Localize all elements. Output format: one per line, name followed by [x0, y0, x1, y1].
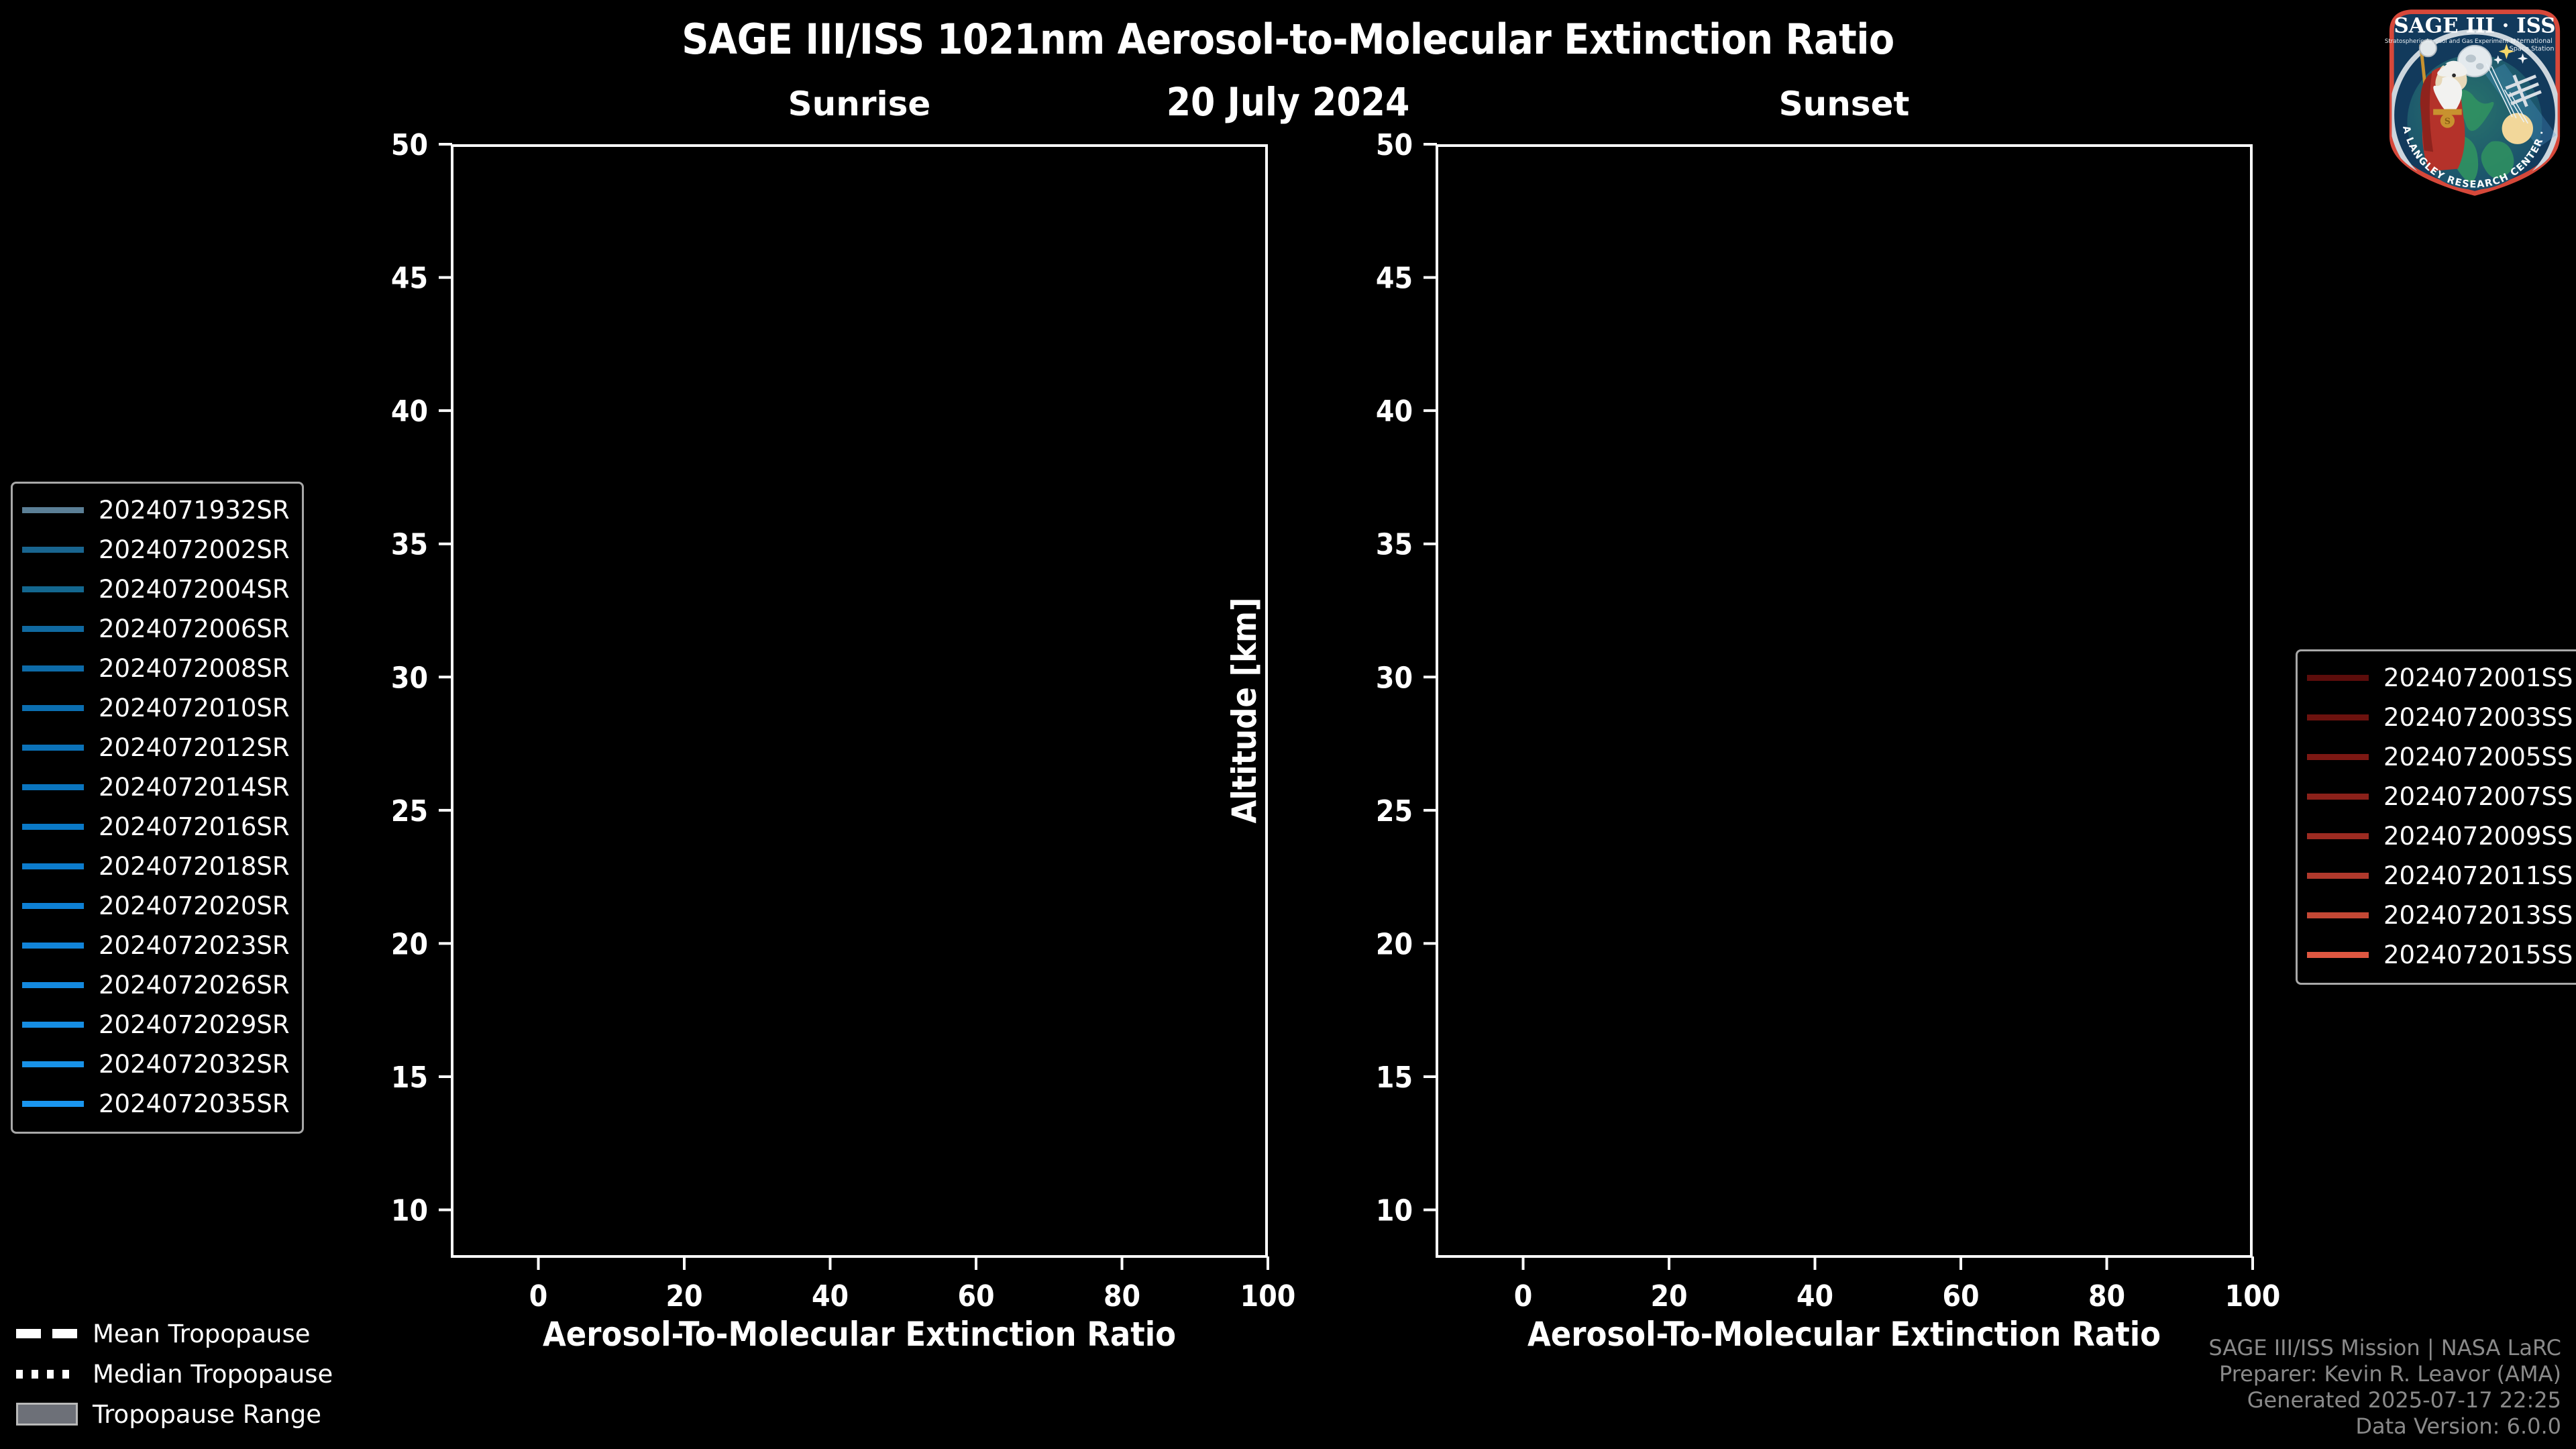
legend-sunrise-item[interactable]: 2024072016SR	[22, 807, 290, 847]
y-tick-label: 50	[1376, 128, 1413, 162]
y-tick-label: 20	[1376, 927, 1413, 961]
legend-sunrise-item[interactable]: 2024072032SR	[22, 1044, 290, 1084]
x-tick-label: 40	[1796, 1279, 1833, 1313]
legend-sunrise-color-swatch-icon	[22, 982, 84, 988]
logo-subtitle-right-2: Space Station	[2510, 46, 2555, 53]
plot-panel-sunrise: 101520253035404550020406080100	[451, 144, 1268, 1258]
legend-sunrise-item[interactable]: 2024071932SR	[22, 490, 290, 530]
legend-sunrise-item[interactable]: 2024072026SR	[22, 965, 290, 1005]
y-tick-label: 30	[1376, 661, 1413, 695]
legend-sunrise-item[interactable]: 2024072029SR	[22, 1005, 290, 1044]
legend-sunset-item[interactable]: 2024072001SS	[2307, 658, 2573, 698]
x-tick-label: 80	[1104, 1279, 1140, 1313]
credits-line-generated: Generated 2025-07-17 22:25	[2208, 1387, 2561, 1413]
legend-sunrise-label: 2024072004SR	[99, 575, 290, 604]
legend-sunset-item[interactable]: 2024072007SS	[2307, 777, 2573, 816]
legend-sunrise-color-swatch-icon	[22, 1101, 84, 1107]
plot-svg: 101520253035404550020406080100	[1436, 144, 2253, 1258]
legend-sunrise-item[interactable]: 2024072004SR	[22, 570, 290, 609]
legend-sunrise-label: 2024072032SR	[99, 1050, 290, 1079]
legend-sunrise-color-swatch-icon	[22, 784, 84, 790]
legend-label-median-tropopause: Median Tropopause	[93, 1360, 333, 1389]
legend-sunrise-color-swatch-icon	[22, 507, 84, 513]
legend-sunrise-label: 2024072010SR	[99, 694, 290, 722]
y-tick-label: 45	[1376, 262, 1413, 296]
legend-sunset-color-swatch-icon	[2307, 794, 2369, 800]
legend-sunset-label: 2024072015SS	[2383, 941, 2573, 969]
legend-sunset-item[interactable]: 2024072003SS	[2307, 698, 2573, 737]
legend-sunset-color-swatch-icon	[2307, 952, 2369, 958]
legend-sunrise-item[interactable]: 2024072002SR	[22, 530, 290, 570]
x-tick-label: 60	[1942, 1279, 1979, 1313]
legend-sunrise-item[interactable]: 2024072014SR	[22, 767, 290, 807]
x-axis-label-sunset: Aerosol-To-Molecular Extinction Ratio	[1436, 1315, 2253, 1354]
legend-sunrise-color-swatch-icon	[22, 943, 84, 949]
legend-label-tropopause-range: Tropopause Range	[93, 1400, 321, 1429]
x-tick-label: 0	[1514, 1279, 1533, 1313]
median-tropopause-dot-icon	[16, 1368, 78, 1379]
legend-sunset-label: 2024072013SS	[2383, 901, 2573, 930]
legend-sunset-item[interactable]: 2024072005SS	[2307, 737, 2573, 777]
legend-label-mean-tropopause: Mean Tropopause	[93, 1320, 311, 1348]
legend-sunset-color-swatch-icon	[2307, 833, 2369, 839]
x-tick-label: 20	[1650, 1279, 1687, 1313]
y-tick-label: 40	[1376, 394, 1413, 429]
svg-text:S: S	[2445, 116, 2451, 126]
y-tick-label: 35	[1376, 528, 1413, 562]
legend-sunset-item[interactable]: 2024072013SS	[2307, 896, 2573, 935]
y-tick-label: 10	[1376, 1194, 1413, 1228]
legend-sunrise-color-swatch-icon	[22, 547, 84, 553]
x-tick-label: 100	[2225, 1279, 2281, 1313]
y-tick-label: 50	[391, 128, 428, 162]
legend-sunrise-color-swatch-icon	[22, 586, 84, 592]
y-tick-label: 10	[391, 1194, 428, 1228]
legend-sunrise-label: 2024072018SR	[99, 852, 290, 881]
legend-sunrise-item[interactable]: 2024072035SR	[22, 1084, 290, 1124]
legend-sunrise-item[interactable]: 2024072018SR	[22, 847, 290, 886]
legend-sunrise-label: 2024072002SR	[99, 535, 290, 564]
legend-sunrise-label: 2024072026SR	[99, 971, 290, 1000]
credits-line-preparer: Preparer: Kevin R. Leavor (AMA)	[2208, 1361, 2561, 1387]
legend-sunrise-color-swatch-icon	[22, 665, 84, 672]
x-axis-label-sunrise: Aerosol-To-Molecular Extinction Ratio	[451, 1315, 1268, 1354]
legend-sunset-label: 2024072003SS	[2383, 703, 2573, 732]
legend-sunrise-label: 2024072016SR	[99, 812, 290, 841]
logo-subtitle-left: Stratospheric Aerosol and Gas Experiment…	[2385, 38, 2516, 45]
credits-block: SAGE III/ISS Mission | NASA LaRC Prepare…	[2208, 1335, 2561, 1440]
legend-sunset[interactable]: 2024072001SS2024072003SS2024072005SS2024…	[2296, 649, 2576, 985]
legend-sunrise-label: 2024072023SR	[99, 931, 290, 960]
legend-sunset-item[interactable]: 2024072015SS	[2307, 935, 2573, 975]
x-tick-label: 40	[812, 1279, 849, 1313]
legend-sunrise-item[interactable]: 2024072010SR	[22, 688, 290, 728]
legend-sunrise-label: 2024072029SR	[99, 1010, 290, 1039]
legend-item-tropopause-range: Tropopause Range	[16, 1394, 333, 1434]
legend-sunrise-color-swatch-icon	[22, 1061, 84, 1067]
legend-sunrise-color-swatch-icon	[22, 903, 84, 909]
legend-sunrise-label: 2024072008SR	[99, 654, 290, 683]
legend-sunrise-color-swatch-icon	[22, 1022, 84, 1028]
logo-subtitle-right-1: International	[2511, 38, 2553, 45]
y-axis-label-sunset: Altitude [km]	[1225, 576, 1264, 845]
x-tick-label: 0	[529, 1279, 548, 1313]
credits-line-data-version: Data Version: 6.0.0	[2208, 1413, 2561, 1440]
legend-sunrise-label: 2024071932SR	[99, 496, 290, 525]
legend-sunset-color-swatch-icon	[2307, 675, 2369, 681]
sage-iii-iss-mission-patch-logo: S SAGE III · ISS Stratospheric Aerosol a…	[2377, 1, 2572, 203]
y-tick-label: 15	[1376, 1061, 1413, 1095]
tropopause-range-swatch-icon	[16, 1403, 78, 1426]
legend-tropopause: Mean Tropopause Median Tropopause Tropop…	[16, 1313, 333, 1434]
legend-sunrise-label: 2024072020SR	[99, 892, 290, 920]
legend-sunset-label: 2024072009SS	[2383, 822, 2573, 851]
x-tick-label: 80	[2088, 1279, 2125, 1313]
legend-item-median-tropopause: Median Tropopause	[16, 1354, 333, 1394]
plot-svg: 101520253035404550020406080100	[451, 144, 1268, 1258]
y-tick-label: 15	[391, 1061, 428, 1095]
y-tick-label: 45	[391, 262, 428, 296]
legend-sunrise-item[interactable]: 2024072020SR	[22, 886, 290, 926]
legend-sunrise-color-swatch-icon	[22, 824, 84, 830]
x-tick-label: 100	[1240, 1279, 1296, 1313]
legend-sunset-label: 2024072001SS	[2383, 663, 2573, 692]
y-tick-label: 30	[391, 661, 428, 695]
legend-sunset-color-swatch-icon	[2307, 912, 2369, 918]
legend-sunrise-color-swatch-icon	[22, 745, 84, 751]
legend-sunrise[interactable]: 2024071932SR2024072002SR2024072004SR2024…	[11, 482, 304, 1134]
y-tick-label: 25	[391, 794, 428, 828]
y-tick-label: 35	[391, 528, 428, 562]
legend-sunrise-item[interactable]: 2024072012SR	[22, 728, 290, 767]
x-tick-label: 20	[665, 1279, 702, 1313]
legend-sunrise-item[interactable]: 2024072006SR	[22, 609, 290, 649]
legend-sunrise-label: 2024072012SR	[99, 733, 290, 762]
mean-tropopause-dash-icon	[16, 1328, 78, 1339]
legend-sunrise-color-swatch-icon	[22, 863, 84, 869]
y-tick-label: 20	[391, 927, 428, 961]
legend-sunrise-item[interactable]: 2024072008SR	[22, 649, 290, 688]
y-tick-label: 25	[1376, 794, 1413, 828]
legend-sunrise-label: 2024072006SR	[99, 614, 290, 643]
legend-sunset-label: 2024072011SS	[2383, 861, 2573, 890]
x-tick-label: 60	[957, 1279, 994, 1313]
legend-sunrise-item[interactable]: 2024072023SR	[22, 926, 290, 965]
credits-line-mission: SAGE III/ISS Mission | NASA LaRC	[2208, 1335, 2561, 1361]
legend-sunrise-label: 2024072014SR	[99, 773, 290, 802]
y-tick-label: 40	[391, 394, 428, 429]
legend-sunset-color-swatch-icon	[2307, 873, 2369, 879]
legend-sunrise-color-swatch-icon	[22, 705, 84, 711]
legend-sunset-item[interactable]: 2024072011SS	[2307, 856, 2573, 896]
panel-title-sunrise: Sunrise	[451, 85, 1268, 123]
legend-item-mean-tropopause: Mean Tropopause	[16, 1313, 333, 1354]
plot-panel-sunset: 101520253035404550020406080100	[1436, 144, 2253, 1258]
legend-sunrise-label: 2024072035SR	[99, 1089, 290, 1118]
logo-title: SAGE III · ISS	[2394, 14, 2555, 38]
legend-sunset-label: 2024072005SS	[2383, 743, 2573, 771]
legend-sunset-color-swatch-icon	[2307, 754, 2369, 760]
legend-sunset-label: 2024072007SS	[2383, 782, 2573, 811]
legend-sunrise-color-swatch-icon	[22, 626, 84, 632]
plot-frame	[1437, 146, 2251, 1256]
plot-frame	[452, 146, 1267, 1256]
page-title: SAGE III/ISS 1021nm Aerosol-to-Molecular…	[0, 15, 2576, 64]
panel-title-sunset: Sunset	[1436, 85, 2253, 123]
legend-sunset-item[interactable]: 2024072009SS	[2307, 816, 2573, 856]
legend-sunset-color-swatch-icon	[2307, 714, 2369, 720]
